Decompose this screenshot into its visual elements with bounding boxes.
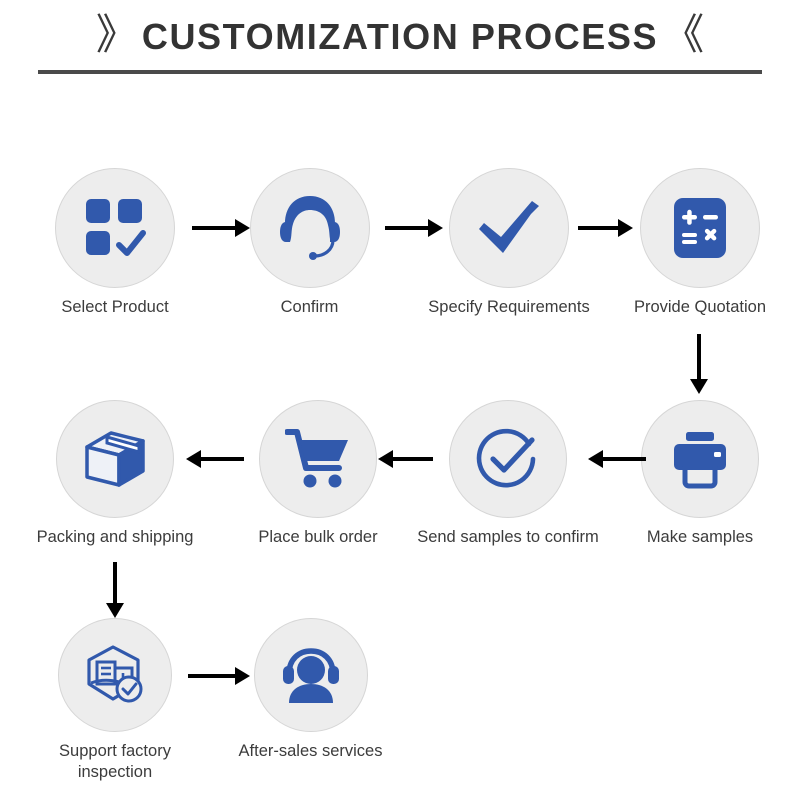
- step-label: Specify Requirements: [410, 297, 608, 318]
- step-label: Packing and shipping: [20, 527, 210, 548]
- step-support-factory-inspection[interactable]: Support factory inspection: [35, 618, 195, 784]
- step-place-bulk-order[interactable]: Place bulk order: [238, 400, 398, 548]
- step-icon-circle: [56, 400, 174, 518]
- step-label: Make samples: [620, 527, 780, 548]
- step-label: Support factory inspection: [35, 741, 195, 784]
- calculator-icon: [668, 196, 732, 260]
- headset-person-icon: [279, 646, 343, 704]
- arrow-shaft: [578, 226, 618, 230]
- step-label: Confirm: [237, 297, 382, 318]
- page-title-text: CUSTOMIZATION PROCESS: [142, 16, 658, 58]
- step-provide-quotation[interactable]: Provide Quotation: [615, 168, 785, 318]
- step-label: Place bulk order: [238, 527, 398, 548]
- package-box-icon: [81, 427, 149, 491]
- step-icon-circle: [449, 168, 569, 288]
- title-divider: [38, 70, 762, 74]
- step-confirm[interactable]: Confirm: [237, 168, 382, 318]
- arrow-shaft: [192, 226, 235, 230]
- arrow-shaft: [603, 457, 646, 461]
- step-after-sales-services[interactable]: After-sales services: [228, 618, 393, 762]
- circle-check-icon: [473, 424, 543, 494]
- arrow-shaft: [697, 334, 701, 379]
- step-make-samples[interactable]: Make samples: [620, 400, 780, 548]
- arrow-shaft: [113, 562, 117, 603]
- page-title: 》 CUSTOMIZATION PROCESS 《: [0, 8, 800, 66]
- factory-shield-check-icon: [82, 644, 148, 706]
- arrow-head: [690, 379, 708, 394]
- step-label: After-sales services: [228, 741, 393, 762]
- printer-icon: [669, 428, 731, 490]
- step-icon-circle: [254, 618, 368, 732]
- checkmark-icon: [474, 193, 544, 263]
- step-icon-circle: [449, 400, 567, 518]
- step-select-product[interactable]: Select Product: [35, 168, 195, 318]
- step-icon-circle: [55, 168, 175, 288]
- support-agent-icon: [274, 192, 346, 264]
- step-specify-requirements[interactable]: Specify Requirements: [410, 168, 608, 318]
- chevron-right-decoration: 《: [662, 14, 704, 56]
- step-send-samples-to-confirm[interactable]: Send samples to confirm: [408, 400, 608, 548]
- step-icon-circle: [58, 618, 172, 732]
- chevron-left-decoration: 》: [96, 14, 138, 56]
- step-icon-circle: [250, 168, 370, 288]
- arrow-step8-to-step9: [104, 562, 126, 618]
- step-label: Select Product: [35, 297, 195, 318]
- arrow-step4-to-step5: [688, 334, 710, 394]
- step-label: Send samples to confirm: [408, 527, 608, 548]
- step-icon-circle: [641, 400, 759, 518]
- step-icon-circle: [640, 168, 760, 288]
- step-icon-circle: [259, 400, 377, 518]
- arrow-shaft: [393, 457, 433, 461]
- shopping-cart-icon: [285, 426, 351, 492]
- page-header: 》 CUSTOMIZATION PROCESS 《: [0, 0, 800, 86]
- step-label: Provide Quotation: [615, 297, 785, 318]
- arrow-head: [106, 603, 124, 618]
- step-packing-and-shipping[interactable]: Packing and shipping: [20, 400, 210, 548]
- grid-check-icon: [82, 195, 148, 261]
